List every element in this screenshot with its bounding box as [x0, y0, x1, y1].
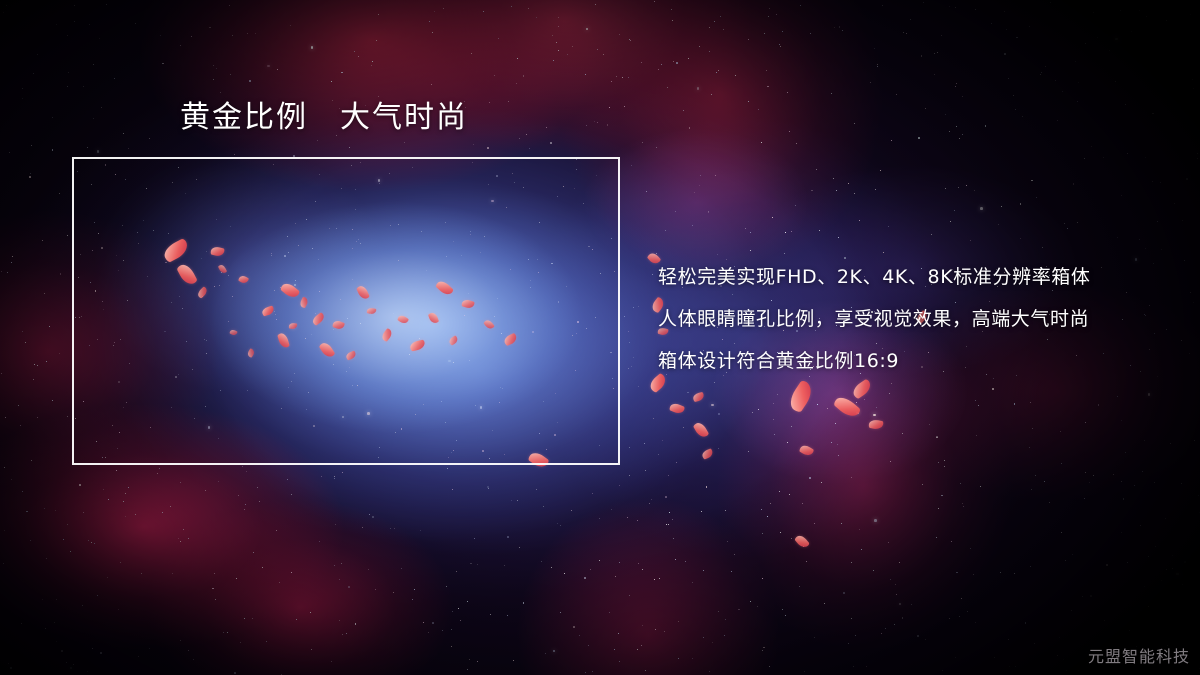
star	[135, 514, 136, 515]
star	[149, 648, 150, 649]
star	[669, 512, 670, 513]
star	[1072, 554, 1073, 555]
star	[118, 609, 119, 610]
star	[451, 629, 452, 630]
image-frame[interactable]	[72, 157, 620, 465]
star	[921, 55, 923, 57]
star	[1170, 443, 1171, 444]
star	[1065, 560, 1066, 561]
star	[349, 147, 350, 148]
star	[708, 211, 709, 212]
star	[9, 152, 10, 153]
star	[372, 61, 373, 62]
star	[458, 608, 459, 609]
star	[1190, 14, 1191, 15]
star	[718, 413, 720, 415]
star	[52, 400, 53, 401]
star	[784, 253, 785, 254]
star	[734, 554, 735, 555]
star	[447, 468, 448, 469]
star	[703, 570, 704, 571]
star	[585, 672, 586, 673]
star	[785, 232, 786, 233]
star	[896, 94, 897, 95]
star	[498, 38, 500, 40]
star	[1190, 292, 1191, 293]
star	[780, 532, 781, 533]
star	[1097, 37, 1098, 38]
star	[709, 51, 710, 52]
star	[1009, 666, 1010, 667]
star	[1, 373, 2, 374]
star	[22, 98, 23, 99]
star	[899, 603, 902, 606]
star	[519, 547, 520, 548]
star	[1172, 555, 1173, 556]
star	[1041, 72, 1042, 73]
star	[715, 175, 716, 176]
star	[1121, 532, 1122, 533]
star	[609, 612, 610, 613]
star	[770, 503, 771, 504]
star	[956, 572, 958, 574]
star	[1013, 95, 1014, 96]
star	[519, 138, 520, 139]
star	[11, 262, 12, 263]
star	[962, 134, 963, 135]
star	[609, 107, 610, 108]
star	[925, 108, 926, 109]
star	[507, 615, 508, 616]
star	[67, 86, 68, 87]
star	[1020, 203, 1022, 205]
star	[1006, 29, 1007, 30]
star	[572, 46, 573, 47]
star	[616, 76, 617, 77]
star	[321, 476, 322, 477]
company-watermark: 元盟智能科技	[1088, 643, 1190, 667]
star	[758, 409, 759, 410]
star	[888, 542, 889, 543]
star	[615, 576, 616, 577]
star	[378, 14, 379, 15]
star	[944, 466, 945, 467]
star	[70, 667, 73, 670]
star	[1120, 10, 1121, 11]
star	[1146, 16, 1147, 17]
star	[779, 44, 780, 45]
star	[477, 564, 478, 565]
star	[339, 620, 340, 621]
star	[348, 586, 350, 588]
star	[780, 46, 781, 47]
star	[30, 173, 32, 175]
star	[1050, 2, 1051, 3]
star	[769, 8, 770, 9]
star	[789, 131, 790, 132]
star	[401, 568, 402, 569]
star	[777, 394, 778, 395]
star	[895, 584, 896, 585]
star	[229, 5, 230, 6]
star	[803, 546, 804, 547]
star	[523, 602, 525, 604]
star	[1085, 43, 1086, 44]
star	[1144, 440, 1145, 441]
star	[101, 107, 102, 108]
star	[526, 134, 527, 135]
star	[1160, 182, 1161, 183]
star	[1125, 452, 1126, 453]
star	[917, 635, 919, 637]
description-text-block: 轻松完美实现FHD、2K、4K、8K标准分辨率箱体 人体眼睛瞳孔比例，享受视觉效…	[658, 256, 1178, 382]
star	[1198, 495, 1199, 496]
star	[700, 175, 701, 176]
star	[1061, 463, 1062, 464]
star	[819, 230, 820, 231]
star	[467, 601, 468, 602]
star	[66, 662, 67, 663]
star	[4, 467, 5, 468]
star	[1004, 11, 1005, 12]
star	[213, 65, 214, 66]
star	[341, 72, 343, 74]
star	[573, 626, 575, 628]
star	[99, 38, 100, 39]
star	[672, 519, 673, 520]
star	[108, 499, 109, 500]
star	[767, 516, 768, 517]
star	[934, 74, 935, 75]
star	[619, 661, 620, 662]
star	[33, 73, 34, 74]
star	[216, 68, 217, 69]
star	[1127, 153, 1128, 154]
star	[253, 552, 254, 553]
star	[668, 524, 669, 525]
star	[378, 96, 379, 97]
petal	[692, 392, 705, 402]
star	[654, 579, 655, 580]
star	[838, 455, 839, 456]
star	[1064, 223, 1065, 224]
star	[791, 538, 792, 539]
star	[346, 633, 347, 634]
star	[94, 543, 95, 544]
star	[474, 538, 475, 539]
star	[631, 366, 632, 367]
star	[429, 21, 430, 22]
star	[945, 114, 946, 115]
star	[874, 519, 877, 522]
star	[20, 425, 21, 426]
star	[517, 500, 518, 501]
star	[624, 316, 625, 317]
star	[961, 598, 962, 599]
star	[814, 523, 815, 524]
star	[1000, 572, 1001, 573]
star	[163, 63, 164, 64]
star	[637, 649, 638, 650]
petal	[669, 402, 685, 416]
star	[975, 622, 976, 623]
star	[800, 5, 801, 6]
star	[46, 361, 47, 362]
star	[738, 609, 740, 611]
star	[762, 650, 763, 651]
star	[624, 106, 625, 107]
star	[1176, 573, 1179, 576]
star	[789, 494, 790, 495]
star	[1134, 485, 1135, 486]
star	[645, 670, 646, 671]
star	[644, 443, 645, 444]
star	[956, 126, 957, 127]
star	[1063, 659, 1064, 660]
star	[59, 353, 60, 354]
star	[1139, 239, 1140, 240]
star	[1031, 489, 1032, 490]
star	[342, 634, 343, 635]
star	[692, 658, 693, 659]
star	[628, 368, 629, 369]
star	[641, 645, 642, 646]
star	[910, 19, 911, 20]
star	[629, 39, 630, 40]
star	[507, 536, 509, 538]
star	[769, 666, 770, 667]
star	[586, 28, 589, 31]
star	[553, 60, 554, 61]
star	[1144, 586, 1145, 587]
star	[487, 147, 489, 149]
star	[1045, 66, 1046, 67]
star	[873, 570, 874, 571]
star	[651, 499, 652, 500]
star	[958, 187, 959, 188]
star	[654, 1, 655, 2]
star	[423, 622, 424, 623]
star	[87, 147, 88, 148]
star	[750, 232, 751, 233]
star	[1104, 620, 1105, 621]
star	[296, 619, 297, 620]
star	[1139, 10, 1140, 11]
star	[668, 475, 669, 476]
star	[799, 586, 800, 587]
star	[665, 230, 666, 231]
star	[599, 560, 600, 561]
star	[991, 23, 992, 24]
star	[955, 86, 956, 87]
star	[92, 648, 93, 649]
star	[290, 25, 291, 26]
petal	[799, 443, 815, 458]
star	[782, 609, 783, 610]
star	[642, 142, 643, 143]
star	[629, 447, 630, 448]
star	[240, 642, 241, 643]
star	[52, 149, 54, 151]
star	[42, 240, 43, 241]
star	[1008, 78, 1009, 79]
star	[1161, 249, 1162, 250]
star	[936, 537, 937, 538]
star	[180, 541, 181, 542]
star	[477, 661, 478, 662]
star	[107, 577, 108, 578]
star	[469, 659, 470, 660]
star	[1184, 260, 1185, 261]
star	[761, 142, 762, 143]
star	[234, 154, 235, 155]
star	[627, 517, 629, 519]
star	[683, 110, 684, 111]
star	[664, 631, 665, 632]
star	[656, 147, 657, 148]
star	[658, 454, 659, 455]
star	[552, 35, 553, 36]
star	[1090, 595, 1092, 597]
star	[925, 639, 926, 640]
star	[56, 24, 57, 25]
star	[162, 512, 163, 513]
star	[267, 65, 270, 68]
star	[1008, 639, 1009, 640]
star	[688, 58, 689, 59]
star	[642, 569, 643, 570]
star	[230, 74, 231, 75]
star	[970, 240, 971, 241]
star	[976, 435, 977, 436]
star	[994, 657, 995, 658]
star	[183, 529, 184, 530]
star	[123, 133, 124, 134]
star	[748, 101, 749, 102]
star	[37, 417, 38, 418]
star	[768, 16, 769, 17]
star	[1152, 181, 1153, 182]
star	[837, 444, 838, 445]
star	[91, 542, 92, 543]
star	[890, 461, 891, 462]
star	[649, 503, 650, 504]
star	[44, 293, 46, 295]
star	[882, 5, 883, 6]
star	[1029, 26, 1030, 27]
star	[718, 448, 719, 449]
star	[891, 383, 892, 384]
star	[611, 509, 612, 510]
star	[56, 641, 57, 642]
star	[390, 528, 391, 529]
star	[114, 78, 115, 79]
star	[452, 611, 453, 612]
star	[942, 670, 943, 671]
star	[1121, 481, 1122, 482]
star	[215, 599, 216, 600]
star	[149, 138, 150, 139]
star	[655, 629, 656, 630]
star	[711, 94, 712, 95]
star	[1091, 146, 1092, 147]
star	[471, 53, 472, 54]
star	[853, 666, 854, 667]
star	[428, 632, 429, 633]
star	[1155, 546, 1156, 547]
star	[945, 188, 946, 189]
star	[67, 524, 68, 525]
star	[567, 54, 568, 55]
star	[60, 273, 62, 275]
star	[259, 501, 260, 502]
star	[659, 578, 661, 580]
star	[619, 34, 620, 35]
star	[841, 523, 842, 524]
star	[848, 183, 849, 184]
star	[12, 256, 13, 257]
star	[1140, 525, 1141, 526]
star	[955, 657, 956, 658]
star	[446, 586, 447, 587]
star	[1066, 670, 1067, 671]
star	[937, 52, 938, 53]
star	[205, 490, 206, 491]
star	[334, 478, 335, 479]
star	[1123, 498, 1125, 500]
star	[1117, 237, 1118, 238]
star	[791, 426, 792, 427]
star	[588, 645, 589, 646]
star	[1015, 666, 1016, 667]
star	[404, 142, 405, 143]
star	[1025, 622, 1027, 624]
star	[489, 102, 490, 103]
star	[748, 451, 749, 452]
star	[817, 404, 818, 405]
star	[529, 148, 530, 149]
star	[851, 618, 852, 619]
star	[630, 40, 631, 41]
star	[718, 611, 719, 612]
slide-title: 黄金比例 大气时尚	[180, 101, 468, 136]
star	[923, 2, 924, 3]
star	[796, 143, 797, 144]
star	[586, 125, 587, 126]
star	[1152, 113, 1154, 115]
star	[31, 145, 32, 146]
star	[180, 482, 181, 483]
star	[513, 660, 514, 661]
petal	[786, 379, 817, 413]
star	[355, 623, 357, 625]
star	[511, 500, 512, 501]
star	[766, 70, 767, 71]
star	[1042, 247, 1043, 248]
star	[242, 466, 243, 467]
star	[671, 9, 672, 10]
star	[1084, 158, 1085, 159]
star	[180, 640, 181, 641]
star	[342, 472, 343, 473]
star	[697, 87, 700, 90]
star	[5, 417, 7, 419]
star	[599, 518, 600, 519]
star	[683, 427, 684, 428]
star	[725, 510, 726, 511]
star	[317, 140, 318, 141]
star	[178, 538, 179, 539]
